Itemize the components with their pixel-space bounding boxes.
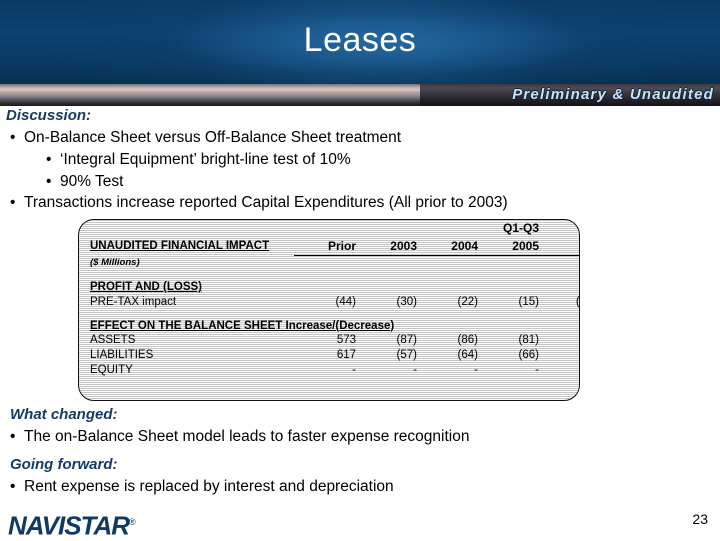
cell-pretax-2003: (30) xyxy=(360,294,421,309)
cell-equity-prior: - xyxy=(294,362,360,377)
units-blank xyxy=(294,255,580,270)
registered-trademark-icon: ® xyxy=(129,517,135,527)
table-row: ASSETS 573 (87) (86) (81) 319 xyxy=(79,333,580,348)
cell-pretax-2004: (22) xyxy=(421,294,482,309)
table-units-row: ($ Millions) xyxy=(79,255,580,270)
spacer-cell xyxy=(79,377,580,400)
page-number: 23 xyxy=(692,511,708,527)
discussion-bullet-3: •90% Test xyxy=(46,173,123,191)
financial-impact-panel: Q1-Q3 UNAUDITED FINANCIAL IMPACT Prior 2… xyxy=(78,219,580,401)
cell-liabilities-prior: 617 xyxy=(294,347,360,362)
superheader-prior xyxy=(294,220,360,235)
cell-equity-2003: - xyxy=(360,362,421,377)
table-row: PRE-TAX impact (44) (30) (22) (15) (111) xyxy=(79,294,580,309)
spacer-row xyxy=(79,270,580,279)
column-header-2005: 2005 xyxy=(482,235,543,253)
column-header-2003: 2003 xyxy=(360,235,421,253)
spacer-row xyxy=(79,377,580,400)
discussion-bullet-3-text: 90% Test xyxy=(60,173,123,190)
spacer-cell xyxy=(79,309,580,318)
cell-assets-2004: (86) xyxy=(421,333,482,348)
cell-assets-total: 319 xyxy=(543,333,580,348)
row-label-equity: EQUITY xyxy=(79,362,294,377)
status-bar: Preliminary & Unaudited xyxy=(0,84,720,106)
superheader-q1q3: Q1-Q3 xyxy=(482,220,543,235)
bullet-glyph: • xyxy=(10,428,24,446)
table-row: EQUITY - - - - - xyxy=(79,362,580,377)
row-label-assets: ASSETS xyxy=(79,333,294,348)
cell-equity-2005: - xyxy=(482,362,543,377)
row-label-pretax: PRE-TAX impact xyxy=(79,294,294,309)
cell-assets-2003: (87) xyxy=(360,333,421,348)
column-header-2004: 2004 xyxy=(421,235,482,253)
table-superheader-row: Q1-Q3 xyxy=(79,220,580,235)
what-changed-bullet-1: •The on-Balance Sheet model leads to fas… xyxy=(10,428,469,446)
cell-assets-prior: 573 xyxy=(294,333,360,348)
spacer-cell xyxy=(79,270,580,279)
financial-impact-table: Q1-Q3 UNAUDITED FINANCIAL IMPACT Prior 2… xyxy=(79,220,580,400)
group-heading-row-balance: EFFECT ON THE BALANCE SHEET Increase/(De… xyxy=(79,318,580,333)
spacer-row xyxy=(79,309,580,318)
superheader-total xyxy=(543,220,580,235)
discussion-bullet-1-text: On-Balance Sheet versus Off-Balance Shee… xyxy=(24,129,401,146)
discussion-bullet-1: •On-Balance Sheet versus Off-Balance She… xyxy=(10,129,401,147)
group-heading-profit-cell: PROFIT AND (LOSS) xyxy=(79,279,580,294)
what-changed-bullet-1-text: The on-Balance Sheet model leads to fast… xyxy=(24,428,469,445)
cell-equity-2004: - xyxy=(421,362,482,377)
going-forward-bullet-1-text: Rent expense is replaced by interest and… xyxy=(24,478,394,495)
table-units: ($ Millions) xyxy=(79,255,294,270)
cell-pretax-2005: (15) xyxy=(482,294,543,309)
going-forward-heading: Going forward: xyxy=(10,456,118,473)
cell-liabilities-total: 430 xyxy=(543,347,580,362)
superheader-blank xyxy=(79,220,294,235)
superheader-2003 xyxy=(360,220,421,235)
cell-liabilities-2004: (64) xyxy=(421,347,482,362)
superheader-2004 xyxy=(421,220,482,235)
bullet-glyph: • xyxy=(10,194,24,212)
navistar-logo: NAVISTAR® xyxy=(8,508,135,540)
cell-pretax-prior: (44) xyxy=(294,294,360,309)
going-forward-bullet-1: •Rent expense is replaced by interest an… xyxy=(10,478,394,496)
group-heading-row-profit: PROFIT AND (LOSS) xyxy=(79,279,580,294)
table-title: UNAUDITED FINANCIAL IMPACT xyxy=(79,235,294,253)
bullet-glyph: • xyxy=(46,151,60,169)
group-heading-profit: PROFIT AND (LOSS) xyxy=(90,281,202,293)
cell-equity-total: - xyxy=(543,362,580,377)
discussion-bullet-2-text: ‘Integral Equipment’ bright-line test of… xyxy=(60,151,351,168)
navistar-logo-text: NAVISTAR xyxy=(8,511,129,541)
cell-assets-2005: (81) xyxy=(482,333,543,348)
row-label-liabilities: LIABILITIES xyxy=(79,347,294,362)
bullet-glyph: • xyxy=(10,129,24,147)
cell-pretax-total: (111) xyxy=(543,294,580,309)
discussion-heading: Discussion: xyxy=(6,107,91,124)
title-banner: Leases xyxy=(0,0,720,84)
column-header-total: Total xyxy=(543,235,580,253)
bullet-glyph: • xyxy=(46,173,60,191)
group-heading-balance-cell: EFFECT ON THE BALANCE SHEET Increase/(De… xyxy=(79,318,580,333)
status-badge: Preliminary & Unaudited xyxy=(512,85,714,105)
cell-liabilities-2005: (66) xyxy=(482,347,543,362)
table-header-row: UNAUDITED FINANCIAL IMPACT Prior 2003 20… xyxy=(79,235,580,253)
table-row: LIABILITIES 617 (57) (64) (66) 430 xyxy=(79,347,580,362)
bullet-glyph: • xyxy=(10,478,24,496)
column-header-prior: Prior xyxy=(294,235,360,253)
what-changed-heading: What changed: xyxy=(10,406,118,423)
discussion-bullet-4: •Transactions increase reported Capital … xyxy=(10,194,508,212)
cell-liabilities-2003: (57) xyxy=(360,347,421,362)
group-heading-balance-sheet: EFFECT ON THE BALANCE SHEET Increase/(De… xyxy=(90,320,394,332)
slide-title: Leases xyxy=(0,18,720,62)
discussion-bullet-2: •‘Integral Equipment’ bright-line test o… xyxy=(46,151,351,169)
discussion-bullet-4-text: Transactions increase reported Capital E… xyxy=(24,194,508,211)
